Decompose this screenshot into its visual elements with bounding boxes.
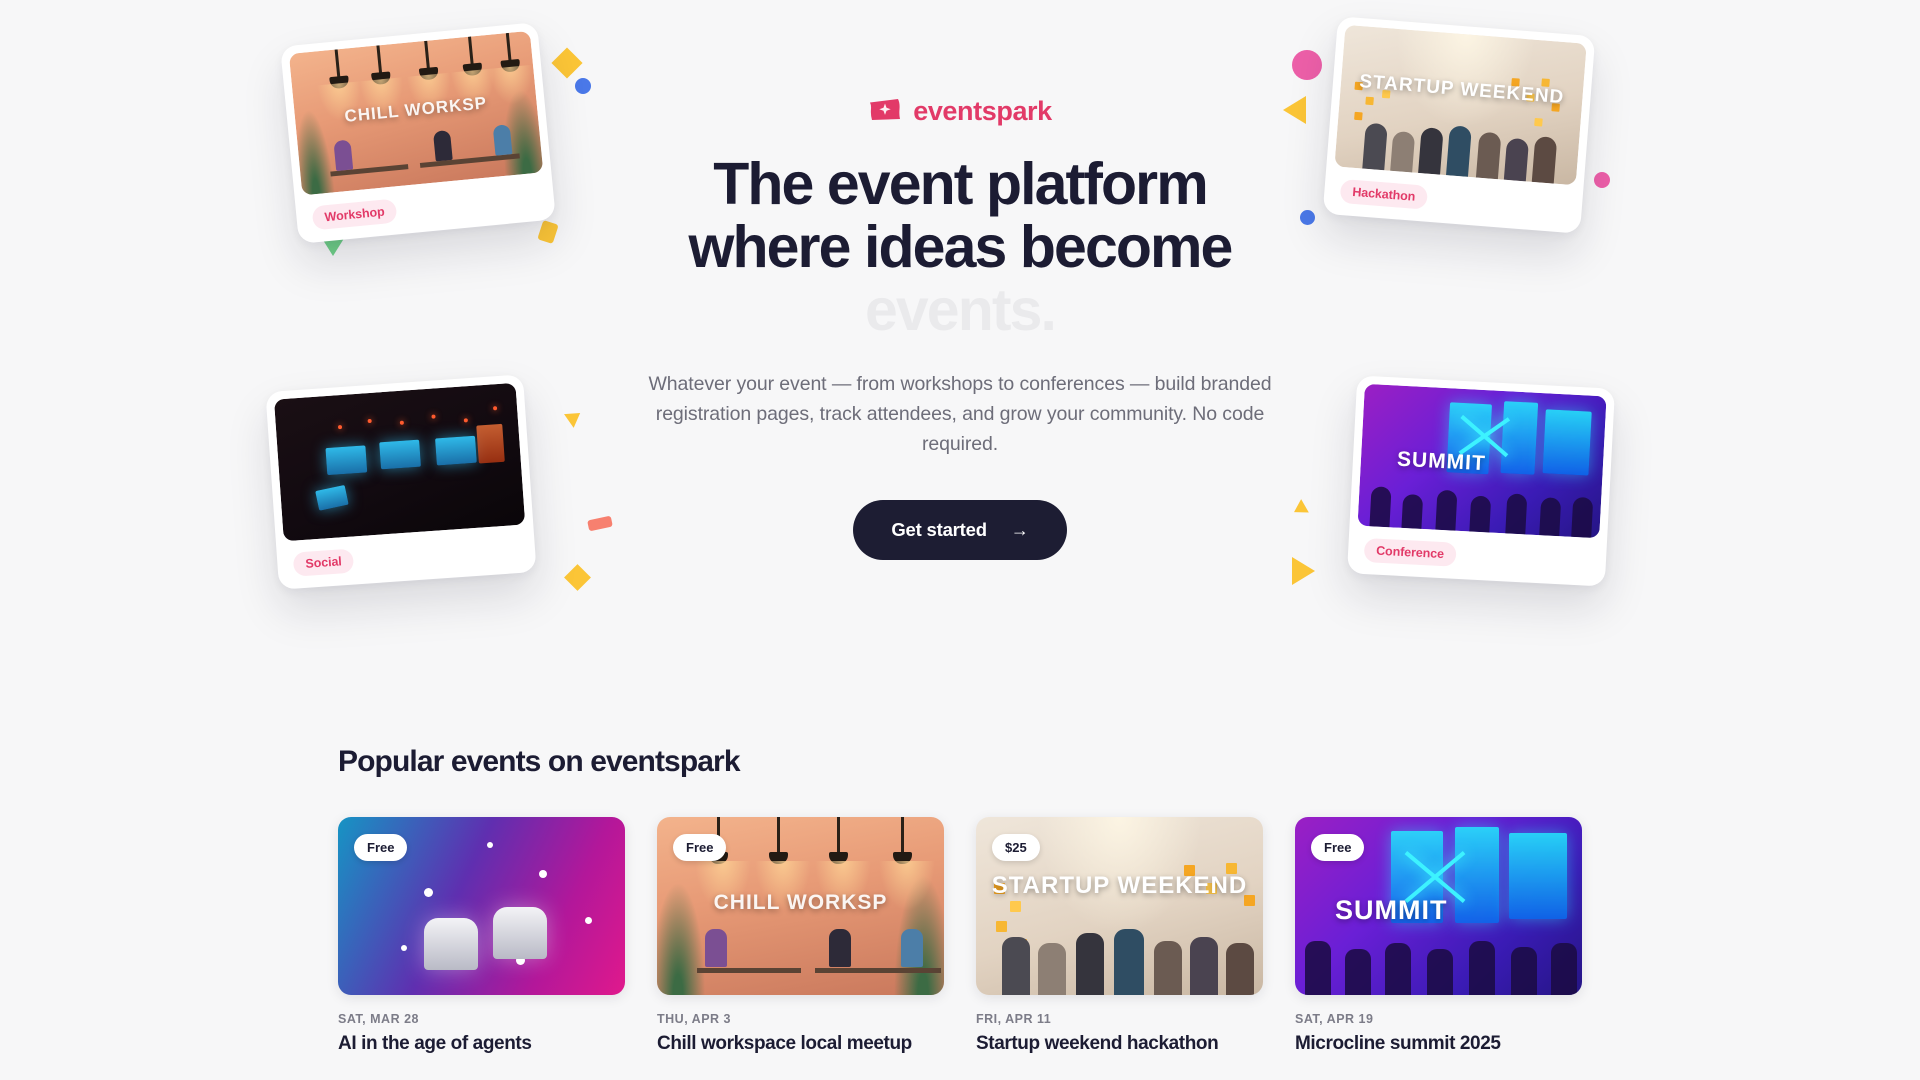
floating-card-social[interactable]: Social (265, 374, 536, 590)
event-grid: Free SAT, MAR 28 AI in the age of agents… (338, 817, 1582, 1055)
popular-events-title: Popular events on eventspark (338, 745, 1582, 779)
event-card[interactable]: SUMMIT Free SAT, APR 19 Microcline summi… (1295, 817, 1582, 1055)
art-summit-conference: SUMMIT (1357, 384, 1606, 538)
get-started-label: Get started (891, 519, 986, 541)
popular-events-section: Popular events on eventspark Free SAT, M (0, 745, 1920, 1055)
page-title: The event platform where ideas become ev… (610, 153, 1310, 342)
event-card[interactable]: CHILL WORKSP Free THU, APR 3 Chill works… (657, 817, 944, 1055)
confetti-yellow-diamond (551, 47, 582, 78)
event-card[interactable]: STARTUP WEEKEND $25 FRI, APR 11 Startup … (976, 817, 1263, 1055)
event-title: Startup weekend hackathon (976, 1033, 1263, 1055)
event-date: FRI, APR 11 (976, 1012, 1263, 1026)
event-title: AI in the age of agents (338, 1033, 625, 1055)
confetti-blue-circle (575, 78, 591, 94)
art-label: STARTUP WEEKEND (976, 873, 1263, 898)
price-badge: Free (673, 834, 726, 861)
headline-line-3: events. (610, 279, 1310, 342)
hero-subheading: Whatever your event — from workshops to … (610, 370, 1310, 459)
art-label: CHILL WORKSP (657, 891, 944, 915)
confetti-yellow-rect (537, 220, 558, 244)
category-badge-social: Social (293, 549, 355, 577)
event-date: SAT, MAR 28 (338, 1012, 625, 1026)
art-chill-workspace: CHILL WORKSP (289, 31, 543, 196)
event-thumbnail: Free (338, 817, 625, 995)
event-title: Microcline summit 2025 (1295, 1033, 1582, 1055)
category-badge-conference: Conference (1364, 538, 1457, 567)
event-date: SAT, APR 19 (1295, 1012, 1582, 1026)
price-badge: $25 (992, 834, 1040, 861)
price-badge: Free (1311, 834, 1364, 861)
ticket-icon (868, 97, 902, 126)
confetti-yellow-diamond-2 (564, 564, 591, 591)
event-thumbnail: SUMMIT Free (1295, 817, 1582, 995)
event-thumbnail: CHILL WORKSP Free (657, 817, 944, 995)
headline-line-1: The event platform (610, 153, 1310, 216)
floating-card-conference[interactable]: SUMMIT Conference (1347, 375, 1615, 586)
price-badge: Free (354, 834, 407, 861)
floating-card-thumb: CHILL WORKSP (289, 31, 543, 196)
art-neon-social (274, 383, 525, 542)
hero-section: CHILL WORKSP Workshop (0, 0, 1920, 700)
confetti-green-triangle-small (564, 406, 585, 428)
hero-content: eventspark The event platform where idea… (610, 96, 1310, 560)
category-badge-workshop: Workshop (312, 198, 398, 230)
event-title: Chill workspace local meetup (657, 1033, 944, 1055)
brand-logo[interactable]: eventspark (610, 96, 1310, 127)
floating-card-thumb (274, 383, 525, 542)
headline-line-2: where ideas become (610, 216, 1310, 279)
event-date: THU, APR 3 (657, 1012, 944, 1026)
arrow-right-icon: → (1011, 521, 1029, 539)
floating-card-hackathon[interactable]: STARTUP WEEKEND Hackathon (1323, 16, 1596, 234)
floating-card-thumb: SUMMIT (1357, 384, 1606, 538)
event-thumbnail: STARTUP WEEKEND $25 (976, 817, 1263, 995)
brand-name: eventspark (913, 96, 1052, 127)
floating-card-workshop[interactable]: CHILL WORKSP Workshop (280, 22, 556, 244)
floating-card-thumb: STARTUP WEEKEND (1334, 25, 1586, 186)
category-badge-hackathon: Hackathon (1340, 179, 1429, 210)
confetti-pink-circle-2 (1594, 172, 1610, 188)
art-label: SUMMIT (1335, 895, 1447, 926)
cta-container: Get started → (610, 500, 1310, 560)
art-startup-weekend: STARTUP WEEKEND (1334, 25, 1586, 186)
get-started-button[interactable]: Get started → (853, 500, 1066, 560)
art-label: SUMMIT (1396, 448, 1486, 477)
event-card[interactable]: Free SAT, MAR 28 AI in the age of agents (338, 817, 625, 1055)
confetti-magenta-circle (1292, 50, 1322, 80)
confetti-yellow-triangle (1292, 557, 1315, 585)
